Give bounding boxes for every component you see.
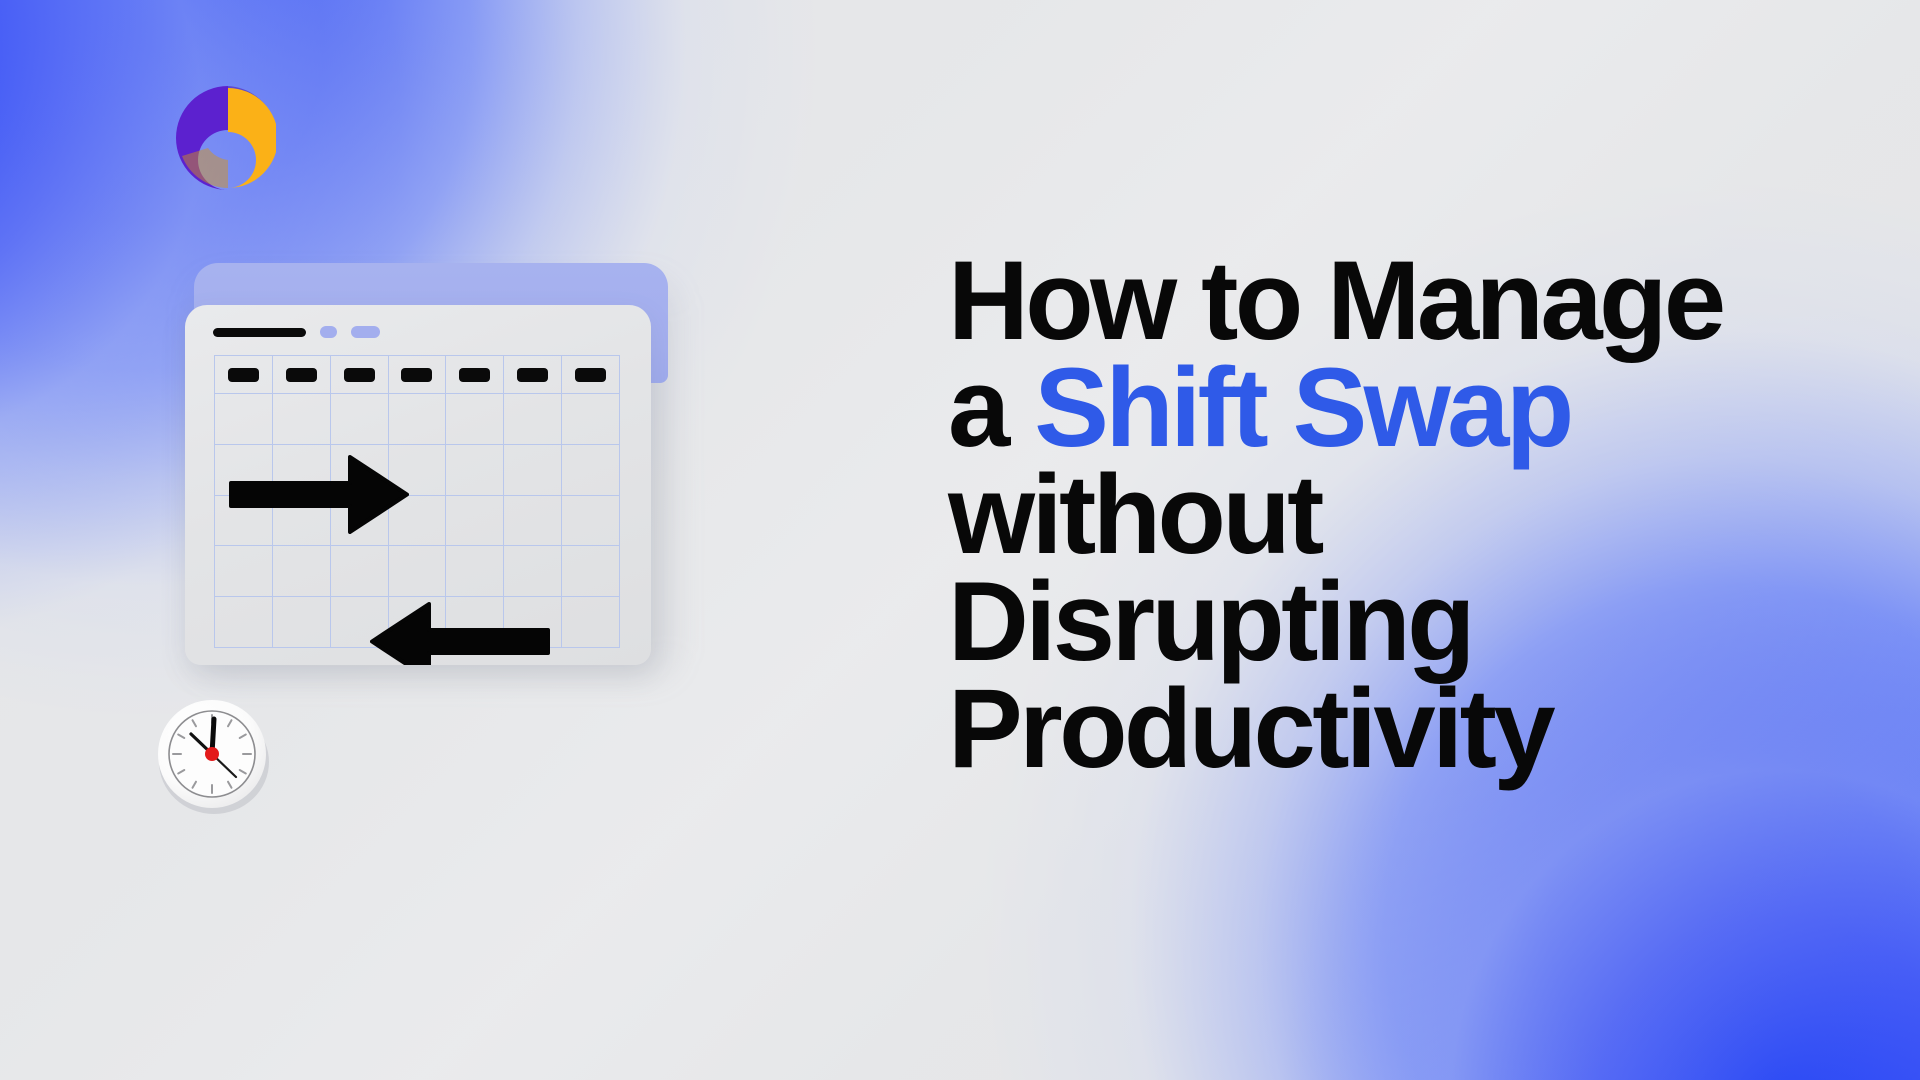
double-spiral-logo-icon (124, 76, 276, 200)
analog-clock-icon (140, 682, 284, 826)
grid-cell (504, 546, 562, 597)
grid-cell (504, 496, 562, 547)
swap-arrow-left-icon (370, 602, 550, 665)
grid-cell (215, 546, 273, 597)
grid-cell (273, 597, 331, 648)
grid-cell (215, 394, 273, 445)
schedule-window-card (185, 305, 651, 665)
header-label-placeholder (459, 368, 490, 382)
grid-header-cell (504, 356, 562, 394)
grid-cell (331, 546, 389, 597)
grid-cell (562, 546, 620, 597)
header-label-placeholder (517, 368, 548, 382)
header-label-placeholder (286, 368, 317, 382)
headline-line-5: Productivity (948, 676, 1828, 783)
grid-cell (215, 597, 273, 648)
headline-line-4: Disrupting (948, 569, 1828, 676)
grid-cell (446, 445, 504, 496)
grid-cell (504, 445, 562, 496)
header-label-placeholder (401, 368, 432, 382)
grid-header-cell (331, 356, 389, 394)
hero-canvas: How to Manage a Shift Swap without Disru… (0, 0, 1920, 1080)
swap-arrow-right-icon (229, 455, 409, 534)
header-label-placeholder (575, 368, 606, 382)
window-title-placeholder (213, 328, 306, 337)
grid-cell (562, 496, 620, 547)
grid-cell (446, 546, 504, 597)
grid-cell (273, 394, 331, 445)
grid-cell (504, 394, 562, 445)
illustration-schedule-window (180, 255, 670, 675)
header-label-placeholder (228, 368, 259, 382)
grid-cell (562, 394, 620, 445)
grid-header-cell (562, 356, 620, 394)
grid-cell (389, 546, 447, 597)
grid-cell (389, 394, 447, 445)
page-title: How to Manage a Shift Swap without Disru… (948, 248, 1828, 783)
headline-line-2: a Shift Swap (948, 355, 1828, 462)
grid-cell (446, 394, 504, 445)
grid-cell (331, 394, 389, 445)
grid-cell (562, 597, 620, 648)
grid-cell (446, 496, 504, 547)
header-label-placeholder (344, 368, 375, 382)
grid-header-cell (273, 356, 331, 394)
headline-line-1: How to Manage (948, 248, 1828, 355)
grid-cell (562, 445, 620, 496)
pill-indicator-icon (351, 326, 380, 338)
grid-header-cell (389, 356, 447, 394)
grid-cell (273, 546, 331, 597)
dot-indicator-icon (320, 326, 337, 338)
grid-header-cell (446, 356, 504, 394)
headline-line-3: without (948, 462, 1828, 569)
grid-header-cell (215, 356, 273, 394)
window-toolbar (213, 321, 380, 343)
